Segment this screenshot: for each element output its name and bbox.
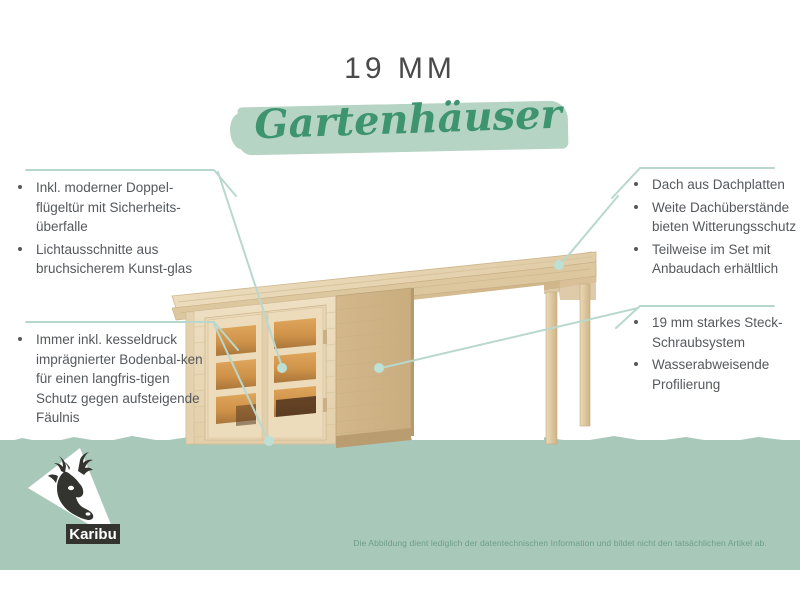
canopy-roof: [408, 252, 596, 310]
callout-item: Wasserabweisende Profilierung: [630, 355, 800, 394]
flat-roof: [172, 252, 596, 320]
callout-item: 19 mm starkes Steck-Schraubsystem: [630, 313, 800, 352]
callout-item: Dach aus Dachplatten: [630, 175, 800, 195]
footer-disclaimer: Die Abbildung dient lediglich der datent…: [330, 538, 790, 548]
callout-bottom-right: 19 mm starkes Steck-Schraubsystem Wasser…: [630, 313, 800, 397]
callout-item: Inkl. moderner Doppel-flügeltür mit Sich…: [14, 178, 214, 237]
connector-dot-wall: [374, 363, 384, 373]
leader-line-door: [218, 172, 282, 367]
callout-top-left: Inkl. moderner Doppel-flügeltür mit Sich…: [14, 178, 214, 282]
canopy-open-area: [412, 285, 544, 440]
callout-item: Lichtausschnitte aus bruchsicherem Kunst…: [14, 240, 214, 279]
canopy-post-left: [546, 292, 557, 444]
side-wall: [336, 288, 411, 448]
connector-dot-roof: [554, 260, 564, 270]
connector-dots: [264, 260, 564, 446]
callout-item: Teilweise im Set mit Anbaudach erhältlic…: [630, 240, 800, 279]
karibu-logo: Karibu: [22, 446, 126, 554]
callout-item: Weite Dachüberstände bieten Witterungssc…: [630, 198, 800, 237]
leader-line-wall: [381, 308, 638, 368]
infographic-page: 19 MM Gartenhäuser Inkl. moderner Doppel…: [0, 0, 800, 600]
canopy-back-edge: [411, 288, 414, 436]
double-wing-glass-door: [205, 305, 327, 440]
canopy-post-right: [580, 284, 590, 426]
logo-brand-text: Karibu: [69, 526, 117, 543]
deer-nose: [86, 512, 91, 515]
callout-item: Immer inkl. kesseldruck imprägnierter Bo…: [14, 330, 214, 428]
connector-dot-door: [277, 363, 287, 373]
leader-line-roof: [561, 196, 618, 264]
callout-top-right: Dach aus Dachplatten Weite Dachüberständ…: [630, 175, 800, 282]
callout-bottom-left: Immer inkl. kesseldruck imprägnierter Bo…: [14, 330, 214, 431]
headline-thickness: 19 MM: [0, 52, 800, 86]
leader-line-floor-beam: [214, 324, 268, 440]
deer-eye: [68, 486, 74, 490]
